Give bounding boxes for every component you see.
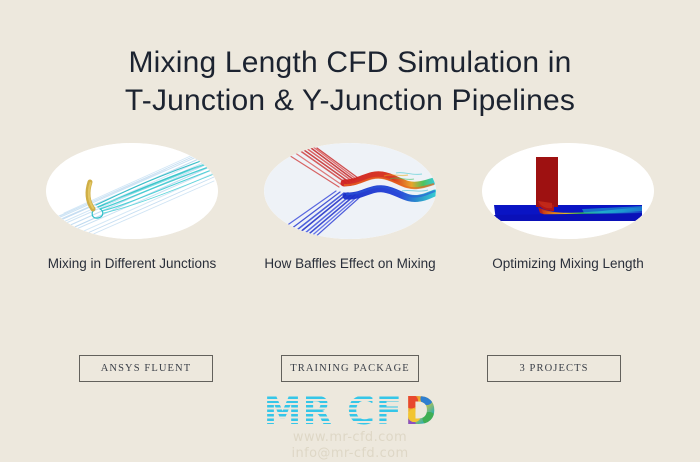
logo-wordmark: MR CF D [264, 392, 437, 430]
training-package-button[interactable]: TRAINING PACKAGE [281, 355, 419, 382]
card-mixing-in-different-junctions[interactable]: Mixing in Different Junctions [34, 143, 230, 274]
brand-logo: MR CF D www.mr-cfd.com info@mr-cfd.com [0, 392, 700, 462]
slide-canvas: Mixing Length CFD Simulation in T-Juncti… [0, 0, 700, 455]
streamline-t-junction-thumbnail[interactable] [46, 143, 218, 239]
title-line-1: Mixing Length CFD Simulation in [0, 44, 700, 82]
y-junction-baffles-thumbnail[interactable] [264, 143, 436, 239]
button-row: ANSYS FLUENT TRAINING PACKAGE 3 PROJECTS [0, 355, 700, 382]
title-line-2: T-Junction & Y-Junction Pipelines [0, 82, 700, 120]
card-row: Mixing in Different Junctions [0, 143, 700, 274]
logo-email: info@mr-cfd.com [291, 446, 408, 462]
logo-letter-d-icon: D [405, 392, 437, 430]
streamline-t-junction-graphic [46, 143, 218, 239]
logo-website: www.mr-cfd.com [293, 430, 407, 446]
t-junction-contour-thumbnail[interactable] [482, 143, 654, 239]
y-junction-baffles-graphic [264, 143, 436, 239]
card-caption: How Baffles Effect on Mixing [264, 253, 435, 274]
card-how-baffles-effect-on-mixing[interactable]: How Baffles Effect on Mixing [252, 143, 448, 274]
logo-text-mrcf: MR CF [264, 392, 403, 430]
card-optimizing-mixing-length[interactable]: Optimizing Mixing Length [470, 143, 666, 274]
card-caption: Mixing in Different Junctions [48, 253, 217, 274]
page-title: Mixing Length CFD Simulation in T-Juncti… [0, 44, 700, 120]
ansys-fluent-button[interactable]: ANSYS FLUENT [79, 355, 213, 382]
t-junction-contour-graphic [482, 143, 654, 239]
projects-count-button[interactable]: 3 PROJECTS [487, 355, 621, 382]
card-caption: Optimizing Mixing Length [492, 253, 644, 274]
